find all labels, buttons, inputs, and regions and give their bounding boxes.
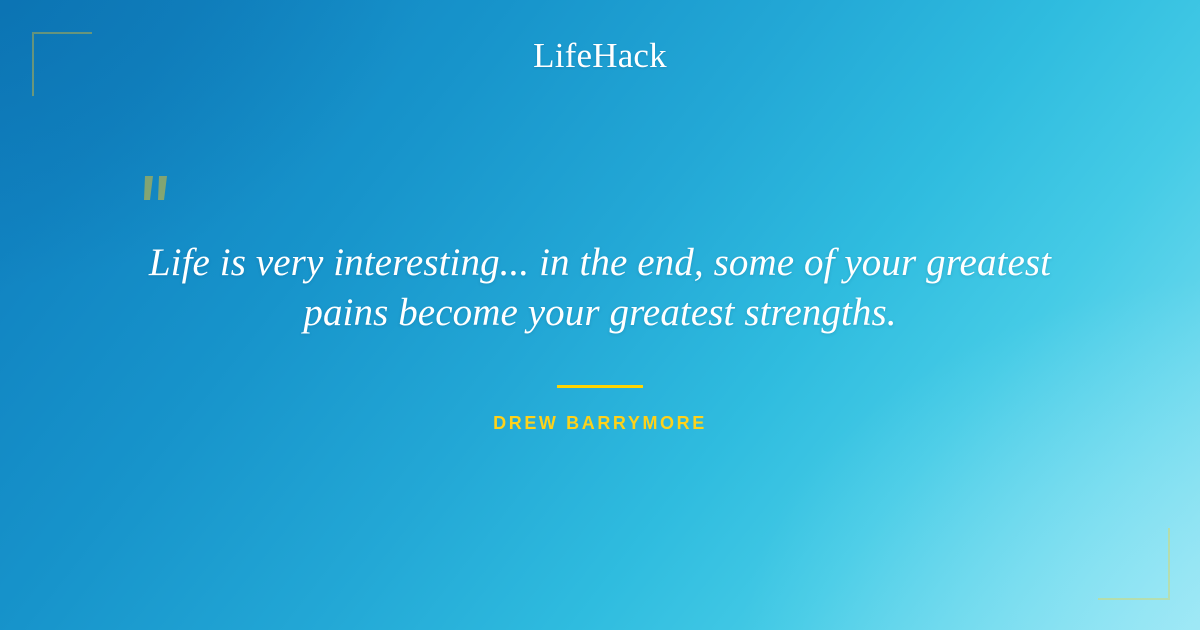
quote-card: LifeHack Life is very interesting... in … bbox=[0, 0, 1200, 630]
divider-wrap bbox=[0, 385, 1200, 388]
quote-block: Life is very interesting... in the end, … bbox=[0, 238, 1200, 338]
brand-logo: LifeHack bbox=[0, 38, 1200, 73]
quote-text: Life is very interesting... in the end, … bbox=[110, 238, 1090, 338]
attribution-divider bbox=[557, 385, 643, 388]
quotation-mark-icon bbox=[133, 168, 189, 224]
quote-author: DREW BARRYMORE bbox=[0, 413, 1200, 435]
corner-bracket-bottom-right-icon bbox=[1098, 528, 1170, 600]
